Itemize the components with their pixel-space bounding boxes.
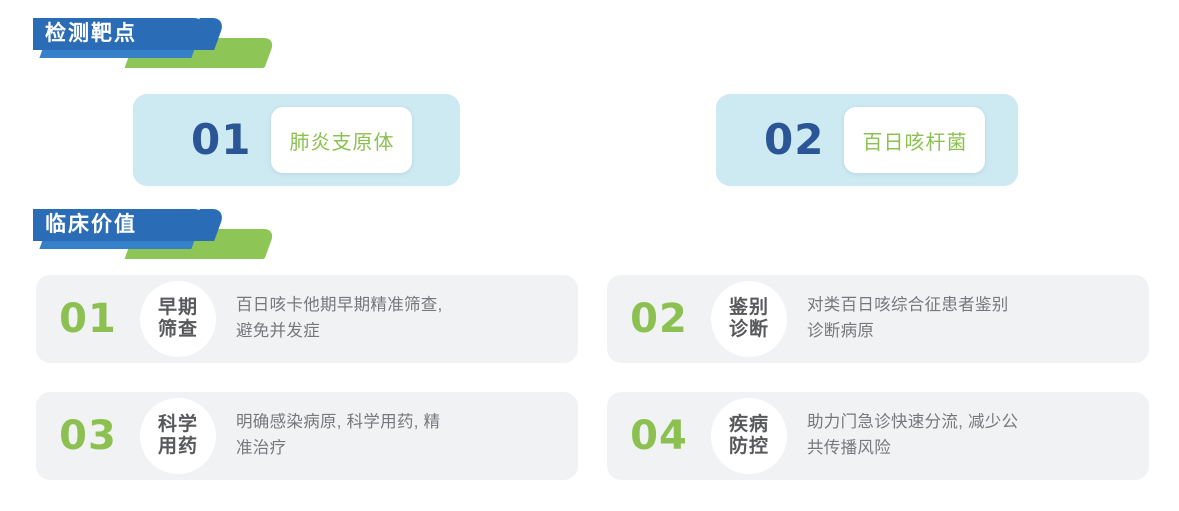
value-description: 对类百日咳综合征患者鉴别 诊断病原: [807, 293, 1149, 344]
value-description-line-1: 对类百日咳综合征患者鉴别: [807, 293, 1135, 319]
target-card[interactable]: 02 百日咳杆菌: [716, 94, 1018, 186]
section-title-clinical-value: 临床价值: [45, 209, 137, 241]
value-tag-line-2: 筛查: [158, 319, 198, 341]
section-banner-clinical-value: 临床价值: [33, 209, 293, 261]
target-name-chip: 百日咳杆菌: [844, 107, 985, 173]
value-description-line-1: 百日咳卡他期早期精准筛查,: [236, 293, 564, 319]
section-banner-targets: 检测靶点: [33, 18, 293, 70]
value-card[interactable]: 03 科学 用药 明确感染病原, 科学用药, 精 准治疗: [36, 392, 578, 480]
value-description-line-2: 避免并发症: [236, 319, 564, 345]
target-number: 01: [191, 119, 251, 161]
value-tag-line-1: 科学: [158, 414, 198, 436]
value-tag-badge: 鉴别 诊断: [711, 281, 787, 357]
value-description-line-1: 助力门急诊快速分流, 减少公: [807, 410, 1135, 436]
value-tag-badge: 疾病 防控: [711, 398, 787, 474]
value-card[interactable]: 04 疾病 防控 助力门急诊快速分流, 减少公 共传播风险: [607, 392, 1149, 480]
value-tag-badge: 早期 筛查: [140, 281, 216, 357]
value-description: 百日咳卡他期早期精准筛查, 避免并发症: [236, 293, 578, 344]
value-number: 04: [607, 416, 711, 456]
page-root: 检测靶点 01 肺炎支原体 02 百日咳杆菌 临床价值 01 早期 筛查 百日咳…: [0, 0, 1179, 511]
value-tag-badge: 科学 用药: [140, 398, 216, 474]
value-description-line-2: 诊断病原: [807, 319, 1135, 345]
target-name-chip: 肺炎支原体: [271, 107, 412, 173]
value-tag-line-2: 诊断: [729, 319, 769, 341]
value-number: 01: [36, 299, 140, 339]
value-tag-line-1: 早期: [158, 297, 198, 319]
target-number: 02: [764, 119, 824, 161]
value-description-line-2: 共传播风险: [807, 436, 1135, 462]
value-card[interactable]: 02 鉴别 诊断 对类百日咳综合征患者鉴别 诊断病原: [607, 275, 1149, 363]
value-description: 助力门急诊快速分流, 减少公 共传播风险: [807, 410, 1149, 461]
value-description-line-1: 明确感染病原, 科学用药, 精: [236, 410, 564, 436]
value-number: 02: [607, 299, 711, 339]
value-tag-line-2: 用药: [158, 436, 198, 458]
target-card[interactable]: 01 肺炎支原体: [133, 94, 460, 186]
value-tag-line-1: 鉴别: [729, 297, 769, 319]
value-description-line-2: 准治疗: [236, 436, 564, 462]
section-title-targets: 检测靶点: [45, 18, 137, 50]
value-card[interactable]: 01 早期 筛查 百日咳卡他期早期精准筛查, 避免并发症: [36, 275, 578, 363]
value-tag-line-1: 疾病: [729, 414, 769, 436]
value-number: 03: [36, 416, 140, 456]
value-description: 明确感染病原, 科学用药, 精 准治疗: [236, 410, 578, 461]
value-tag-line-2: 防控: [729, 436, 769, 458]
